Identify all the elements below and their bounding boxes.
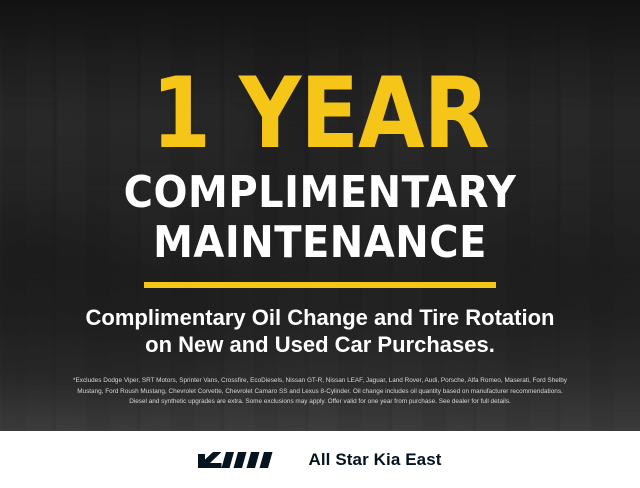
headline-complimentary: COMPLIMENTARY bbox=[124, 171, 517, 214]
offer-subheading-line-2: on New and Used Car Purchases. bbox=[20, 331, 620, 359]
disclaimer-line-1: *Excludes Dodge Viper, SRT Motors, Sprin… bbox=[10, 376, 630, 387]
disclaimer-line-2: Mustang, Ford Roush Mustang, Chevrolet C… bbox=[10, 387, 630, 398]
disclaimer-text: *Excludes Dodge Viper, SRT Motors, Sprin… bbox=[10, 376, 630, 408]
offer-subheading-line-1: Complimentary Oil Change and Tire Rotati… bbox=[20, 304, 620, 332]
dealer-footer: All Star Kia East bbox=[0, 431, 640, 488]
headline-maintenance: MAINTENANCE bbox=[153, 221, 487, 264]
dealer-name-label: All Star Kia East bbox=[308, 450, 441, 470]
hero-content: 1 YEAR COMPLIMENTARY MAINTENANCE Complim… bbox=[0, 0, 640, 431]
headline-primary: 1 YEAR bbox=[151, 73, 489, 157]
yellow-divider-rule bbox=[144, 282, 496, 288]
hero-section: 1 YEAR COMPLIMENTARY MAINTENANCE Complim… bbox=[0, 0, 640, 431]
disclaimer-line-3: Diesel and synthetic upgrades are extra.… bbox=[10, 397, 630, 408]
offer-subheading: Complimentary Oil Change and Tire Rotati… bbox=[20, 304, 620, 359]
kia-logo bbox=[198, 449, 286, 471]
maintenance-offer-banner: 1 YEAR COMPLIMENTARY MAINTENANCE Complim… bbox=[0, 0, 640, 488]
